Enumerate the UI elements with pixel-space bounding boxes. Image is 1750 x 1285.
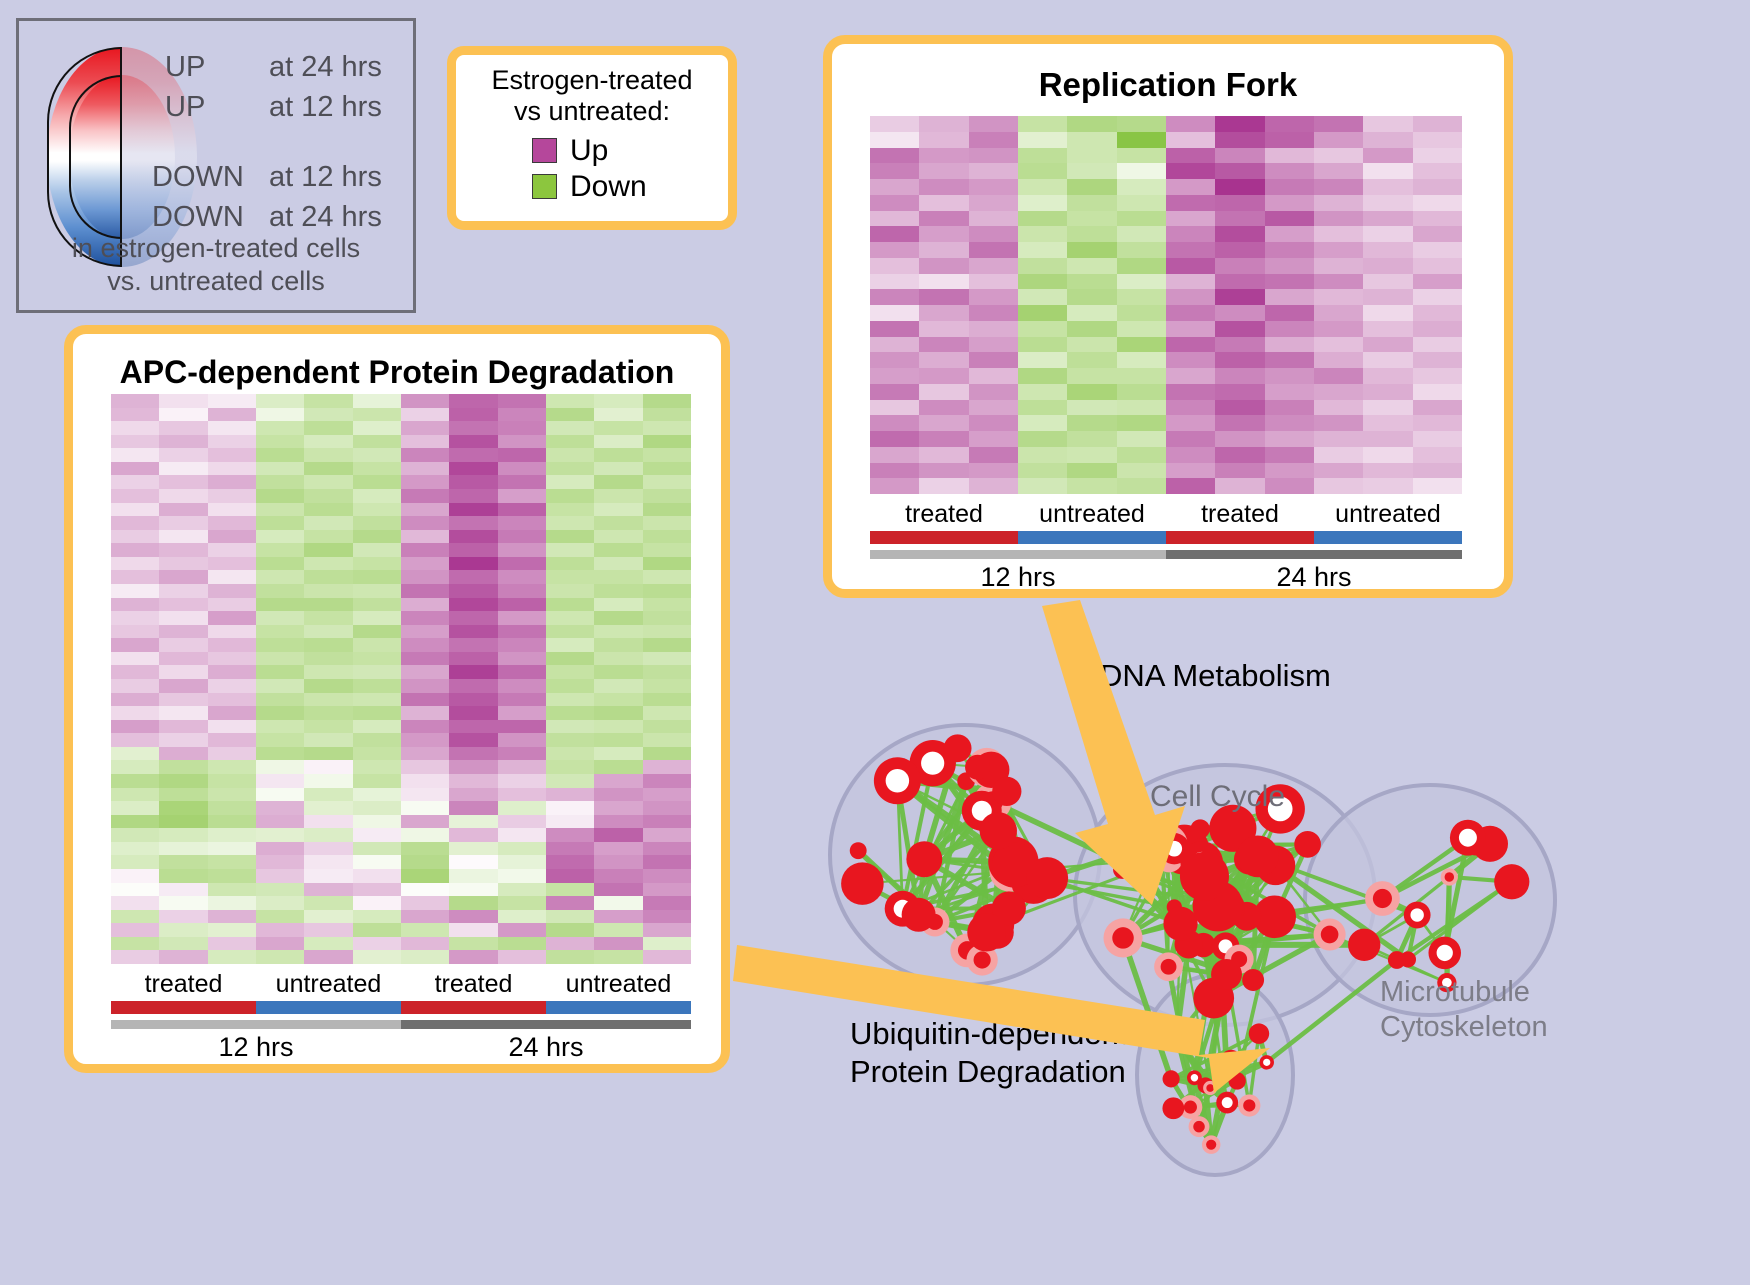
legend-key-up-12: UP: [165, 91, 205, 124]
rf-bar-treated-24: [1166, 531, 1314, 544]
up-label: Up: [570, 134, 608, 168]
up-color-swatch: [532, 138, 557, 163]
rf-time-label-24: 24 hrs: [1166, 562, 1462, 593]
replication-fork-title: Replication Fork: [832, 66, 1504, 104]
rf-time-12: [870, 550, 1166, 559]
figure-canvas: UP at 24 hrs UP at 12 hrs DOWN at 12 hrs…: [0, 0, 1750, 1279]
gradient-legend-footer-line2: vs. untreated cells: [19, 265, 413, 298]
apc-bar-untreated-12: [256, 1001, 401, 1014]
replication-fork-condition-labels: treated untreated treated untreated: [870, 500, 1462, 529]
apc-time-24: [401, 1020, 691, 1029]
updown-legend-box: Estrogen-treated vs untreated: Up Down: [447, 46, 737, 230]
apc-condition-bar: [111, 1001, 691, 1014]
panel-replication-fork: Replication Fork treated untreated treat…: [823, 35, 1513, 598]
gradient-legend-footer: in estrogen-treated cells vs. untreated …: [19, 232, 413, 298]
rf-bar-untreated-24: [1314, 531, 1462, 544]
legend-item-down: Down: [532, 170, 728, 204]
microtubule-line2: Cytoskeleton: [1380, 1010, 1548, 1045]
replication-fork-time-bar: [870, 550, 1462, 559]
cluster-label-dna-metabolism: DNA Metabolism: [1100, 658, 1331, 694]
down-label: Down: [570, 170, 647, 204]
inner-ring-outline: [69, 75, 122, 239]
apc-heatmap: [111, 394, 691, 964]
legend-when-down-12: at 12 hrs: [269, 161, 382, 194]
cluster-label-microtubule-cytoskeleton: Microtubule Cytoskeleton: [1380, 975, 1548, 1045]
updown-header-line2: vs untreated:: [456, 96, 728, 127]
apc-title: APC-dependent Protein Degradation: [73, 354, 721, 391]
apc-time-label-12: 12 hrs: [111, 1032, 401, 1063]
apc-cond-1: untreated: [256, 970, 401, 999]
updown-legend-header: Estrogen-treated vs untreated:: [456, 55, 728, 128]
legend-when-up-24: at 24 hrs: [269, 51, 382, 84]
apc-cond-3: untreated: [546, 970, 691, 999]
apc-cond-0: treated: [111, 970, 256, 999]
apc-time-12: [111, 1020, 401, 1029]
legend-key-down-12: DOWN: [152, 161, 244, 194]
panel-apc-degradation: APC-dependent Protein Degradation treate…: [64, 325, 730, 1073]
replication-fork-condition-bar: [870, 531, 1462, 544]
microtubule-line1: Microtubule: [1380, 975, 1548, 1010]
apc-bar-treated-12: [111, 1001, 256, 1014]
rf-time-24: [1166, 550, 1462, 559]
rf-time-label-12: 12 hrs: [870, 562, 1166, 593]
apc-time-label-24: 24 hrs: [401, 1032, 691, 1063]
legend-when-up-12: at 12 hrs: [269, 91, 382, 124]
legend-when-down-24: at 24 hrs: [269, 201, 382, 234]
apc-time-labels: 12 hrs 24 hrs: [111, 1032, 691, 1063]
network-diagram: DNA Metabolism Cell Cycle Microtubule Cy…: [790, 620, 1750, 1280]
legend-item-up: Up: [532, 134, 728, 168]
replication-fork-time-labels: 12 hrs 24 hrs: [870, 562, 1462, 593]
replication-fork-heatmap: [870, 116, 1462, 494]
apc-bar-untreated-24: [546, 1001, 691, 1014]
rf-cond-2: treated: [1166, 500, 1314, 529]
rf-cond-1: untreated: [1018, 500, 1166, 529]
apc-bar-treated-24: [401, 1001, 546, 1014]
legend-key-down-24: DOWN: [152, 201, 244, 234]
ubiquitin-line2: Protein Degradation: [850, 1053, 1128, 1091]
updown-legend-keys: Up Down: [456, 134, 728, 204]
apc-time-bar: [111, 1020, 691, 1029]
rf-bar-treated-12: [870, 531, 1018, 544]
rf-cond-0: treated: [870, 500, 1018, 529]
gradient-legend-footer-line1: in estrogen-treated cells: [19, 232, 413, 265]
rf-cond-3: untreated: [1314, 500, 1462, 529]
rf-bar-untreated-12: [1018, 531, 1166, 544]
down-color-swatch: [532, 174, 557, 199]
ubiquitin-line1: Ubiquitin-dependent: [850, 1015, 1128, 1053]
network-svg: [790, 620, 1750, 1280]
gradient-legend-box: UP at 24 hrs UP at 12 hrs DOWN at 12 hrs…: [16, 18, 416, 313]
cluster-label-ubiquitin-degradation: Ubiquitin-dependent Protein Degradation: [850, 1015, 1128, 1091]
apc-condition-labels: treated untreated treated untreated: [111, 970, 691, 999]
legend-key-up-24: UP: [165, 51, 205, 84]
updown-header-line1: Estrogen-treated: [456, 65, 728, 96]
cluster-label-cell-cycle: Cell Cycle: [1150, 780, 1285, 814]
apc-cond-2: treated: [401, 970, 546, 999]
